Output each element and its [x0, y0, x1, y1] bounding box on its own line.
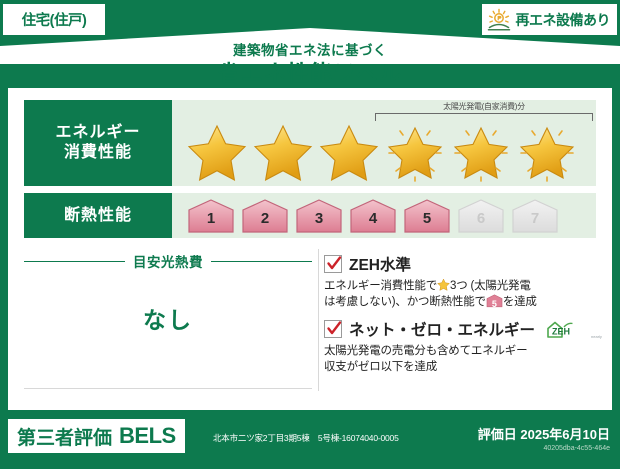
certification-claims-panel: ZEH水準 エネルギー消費性能で3つ (太陽光発電 は考慮しない)、かつ断熱性能…: [324, 245, 596, 395]
zeh-logo-icon: ZEH: [544, 320, 584, 339]
energy-label-line1: エネルギー: [55, 123, 140, 143]
star-filled-solar: [516, 122, 578, 182]
claim-net-zero-title: ネット・ゼロ・エネルギー: [349, 318, 535, 340]
bels-certification-badge: 第三者評価 BELS: [8, 419, 185, 453]
claim-zeh-level-head: ZEH水準: [324, 253, 596, 275]
utility-cost-heading-row: 目安光熱費: [24, 251, 312, 271]
insulation-performance-row: 断熱性能 1 2 3: [24, 193, 596, 238]
star-filled-solar: [384, 122, 446, 182]
star-filled: [186, 122, 248, 182]
label-title-block: 建築物省エネ法に基づく 省エネ性能ラベル: [0, 42, 620, 87]
star-filled: [252, 122, 314, 182]
insulation-level-item: 6: [456, 198, 506, 234]
property-address: 北本市二ツ家2丁目3期5棟 5号棟-16074040-0005: [213, 432, 399, 444]
energy-star-rating: [186, 122, 578, 182]
claim-zeh-body-line2-pre: は考慮しない)、かつ断熱性能で: [324, 296, 486, 308]
solar-span-bracket: [375, 113, 593, 121]
star-filled-solar: [450, 122, 512, 182]
claim-net-zero-line2: 収支がゼロ以下を達成: [324, 361, 437, 373]
insulation-level-number: 6: [456, 210, 506, 227]
evaluation-date-block: 評価日 2025年6月10日 40205dba-4c55-464e: [478, 424, 610, 452]
zeh-logo-sublabel: nearly: [591, 334, 602, 340]
insulation-label: 断熱性能: [64, 206, 132, 226]
utility-cost-heading: 目安光熱費: [133, 251, 203, 271]
insulation-level-item: 3: [294, 198, 344, 234]
claim-net-zero-head: ネット・ゼロ・エネルギー ZEH nearly: [324, 318, 596, 340]
insulation-level-number: 3: [294, 210, 344, 227]
claim-zeh-body-pre: エネルギー消費性能で: [324, 280, 437, 292]
claim-zeh-body-line2-post: を達成: [503, 296, 537, 308]
insulation-level-item: 1: [186, 198, 236, 234]
star-filled: [318, 122, 380, 182]
insulation-level-item: 4: [348, 198, 398, 234]
heading-rule-right: [211, 261, 312, 262]
utility-cost-value: なし: [24, 301, 312, 335]
insulation-level-item: 7: [510, 198, 560, 234]
inline-star-icon: [437, 278, 450, 291]
claim-net-zero-body: 太陽光発電の売電分も含めてエネルギー 収支がゼロ以下を達成: [324, 343, 596, 375]
bels-jp-label: 第三者評価: [17, 423, 112, 450]
page-title: 省エネ性能ラベル: [0, 60, 620, 87]
title-subtitle: 建築物省エネ法に基づく: [0, 42, 620, 59]
heading-rule-left: [24, 261, 125, 262]
inline-house-number: 5: [486, 296, 503, 312]
solar-contribution-label: 太陽光発電(自家消費)分: [375, 102, 593, 112]
insulation-level-scale: 1 2 3 4 5: [186, 198, 560, 234]
claim-net-zero-line1: 太陽光発電の売電分も含めてエネルギー: [324, 345, 527, 357]
energy-performance-body: 太陽光発電(自家消費)分: [172, 100, 596, 186]
insulation-level-item: 2: [240, 198, 290, 234]
lower-section: 目安光熱費 なし ZEH水準 エネルギー消費性能で3つ (太陽光発: [24, 245, 596, 395]
claim-zeh-level: ZEH水準 エネルギー消費性能で3つ (太陽光発電 は考慮しない)、かつ断熱性能…: [324, 253, 596, 310]
svg-text:ZEH: ZEH: [552, 326, 570, 336]
utility-cost-panel: 目安光熱費 なし: [24, 245, 312, 395]
energy-performance-row: エネルギー 消費性能 太陽光発電(自家消費)分: [24, 100, 596, 186]
inline-house-badge-icon: 5: [486, 294, 503, 308]
evaluation-code: 40205dba-4c55-464e: [478, 445, 610, 452]
checkbox-checked-icon[interactable]: [324, 255, 342, 273]
insulation-level-number: 2: [240, 210, 290, 227]
checkbox-checked-icon[interactable]: [324, 320, 342, 338]
insulation-performance-label-box: 断熱性能: [24, 193, 172, 238]
claim-net-zero-energy: ネット・ゼロ・エネルギー ZEH nearly 太陽光発電の売電分も含めてエネル…: [324, 318, 596, 375]
bels-en-label: BELS: [119, 423, 176, 449]
energy-label-line2: 消費性能: [64, 143, 132, 163]
main-card: エネルギー 消費性能 太陽光発電(自家消費)分: [8, 88, 612, 410]
solar-contribution-span: 太陽光発電(自家消費)分: [375, 102, 593, 121]
insulation-level-number: 7: [510, 210, 560, 227]
insulation-level-number: 4: [348, 210, 398, 227]
claim-zeh-level-body: エネルギー消費性能で3つ (太陽光発電 は考慮しない)、かつ断熱性能で5を達成: [324, 278, 596, 310]
insulation-level-number: 5: [402, 210, 452, 227]
claim-zeh-level-title: ZEH水準: [349, 253, 411, 275]
footer-bar: 第三者評価 BELS 北本市二ツ家2丁目3期5棟 5号棟-16074040-00…: [0, 410, 620, 469]
energy-performance-label: 住宅(住戸): [0, 0, 620, 469]
vertical-divider: [318, 249, 319, 391]
insulation-level-item: 5: [402, 198, 452, 234]
evaluation-date: 評価日 2025年6月10日: [478, 424, 610, 443]
insulation-performance-body: 1 2 3 4 5: [172, 193, 596, 238]
energy-performance-label-box: エネルギー 消費性能: [24, 100, 172, 186]
insulation-level-number: 1: [186, 210, 236, 227]
renewable-badge-label: 再エネ設備あり: [516, 10, 611, 30]
utility-cost-bottom-rule: [24, 388, 312, 389]
claim-zeh-body-mid: 3つ (太陽光発電: [450, 280, 531, 292]
